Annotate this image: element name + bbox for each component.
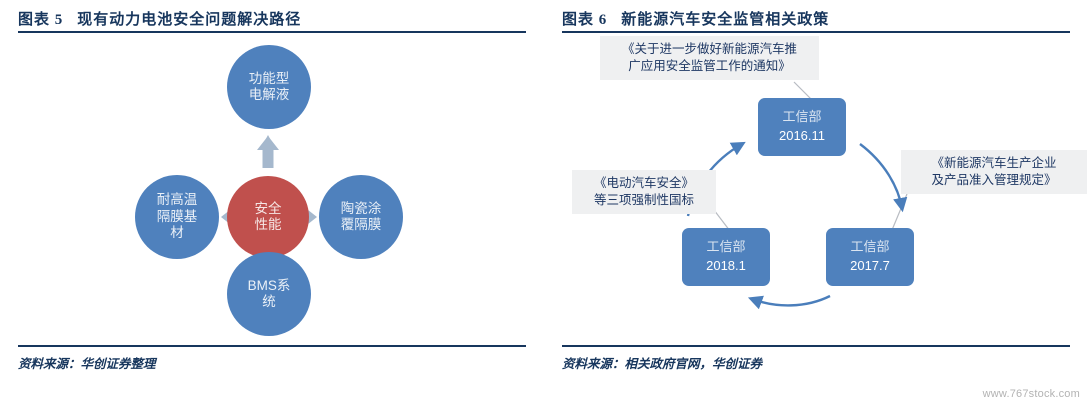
node-ceramic-coated-separator[interactable]: 陶瓷涂 覆隔膜 [319,175,403,259]
battery-safety-diagram: 功能型 电解液 耐高温 隔膜基 材 安全 性能 [18,36,526,336]
node-left-line2: 隔膜基 [157,209,198,225]
exhibit-5-panel: 图表 5现有动力电池安全问题解决路径 [0,0,544,404]
gov-box-top-org: 工信部 [782,108,821,127]
callout-top-line2: 广应用安全监管工作的通知》 [607,58,812,75]
callout-right-line1: 《新能源汽车生产企业 [908,155,1080,172]
block-arrow-up-icon [257,136,279,168]
exhibit-5-title-rule [18,31,526,33]
node-heat-resistant-separator[interactable]: 耐高温 隔膜基 材 [135,175,219,259]
node-left-line3: 材 [157,225,198,241]
node-top-line2: 电解液 [249,87,290,103]
exhibit-5-title-text: 现有动力电池安全问题解决路径 [77,12,301,28]
policy-cycle-diagram: 《关于进一步做好新能源汽车推 广应用安全监管工作的通知》 《新能源汽车生产企业 … [562,34,1070,334]
callout-top-line1: 《关于进一步做好新能源汽车推 [607,41,812,58]
exhibit-6-panel: 图表 6新能源汽车安全监管相关政策 [544,0,1088,404]
watermark: www.767stock.com [983,388,1080,400]
node-left-line1: 耐高温 [157,192,198,208]
exhibit-6-footer-rule [562,345,1070,347]
node-center-line2: 性能 [255,217,282,233]
gov-box-2017-7[interactable]: 工信部 2017.7 [826,228,914,286]
gov-box-top-date: 2016.11 [779,127,825,146]
node-top-line1: 功能型 [249,71,290,87]
exhibit-6-title: 图表 6新能源汽车安全监管相关政策 [562,8,1070,29]
callout-right-line2: 及产品准入管理规定》 [908,172,1080,189]
callout-left-line1: 《电动汽车安全》 [579,175,709,192]
exhibit-6-title-rule [562,31,1070,33]
exhibit-5-title: 图表 5现有动力电池安全问题解决路径 [18,8,526,29]
screenshot-root: 图表 5现有动力电池安全问题解决路径 [0,0,1088,404]
node-center-line1: 安全 [255,201,282,217]
node-safety-performance[interactable]: 安全 性能 [227,176,309,258]
node-bottom-line2: 统 [248,294,291,310]
exhibit-6-title-number: 图表 6 [562,12,607,28]
gov-box-2016-11[interactable]: 工信部 2016.11 [758,98,846,156]
exhibit-5-title-number: 图表 5 [18,12,63,28]
exhibit-5-source: 资料来源：华创证券整理 [18,353,156,372]
exhibit-6-title-text: 新能源汽车安全监管相关政策 [621,12,829,28]
node-functional-electrolyte[interactable]: 功能型 电解液 [227,45,311,129]
arrow-top-to-right [860,144,902,208]
exhibit-6-source: 资料来源：相关政府官网，华创证券 [562,353,762,372]
gov-box-2018-1[interactable]: 工信部 2018.1 [682,228,770,286]
exhibit-5-footer-rule [18,345,526,347]
callout-notice-promotion-safety: 《关于进一步做好新能源汽车推 广应用安全监管工作的通知》 [600,36,819,80]
gov-box-right-date: 2017.7 [850,257,890,276]
node-right-line1: 陶瓷涂 [341,201,382,217]
node-bottom-line1: BMS系 [248,278,291,294]
node-right-line2: 覆隔膜 [341,217,382,233]
callout-left-line2: 等三项强制性国标 [579,192,709,209]
node-bms-system[interactable]: BMS系 统 [227,252,311,336]
gov-box-left-org: 工信部 [706,238,745,257]
callout-manufacturer-access-rules: 《新能源汽车生产企业 及产品准入管理规定》 [901,150,1087,194]
arrow-right-to-left [752,296,830,305]
gov-box-left-date: 2018.1 [706,257,746,276]
callout-ev-safety-standards: 《电动汽车安全》 等三项强制性国标 [572,170,716,214]
gov-box-right-org: 工信部 [850,238,889,257]
